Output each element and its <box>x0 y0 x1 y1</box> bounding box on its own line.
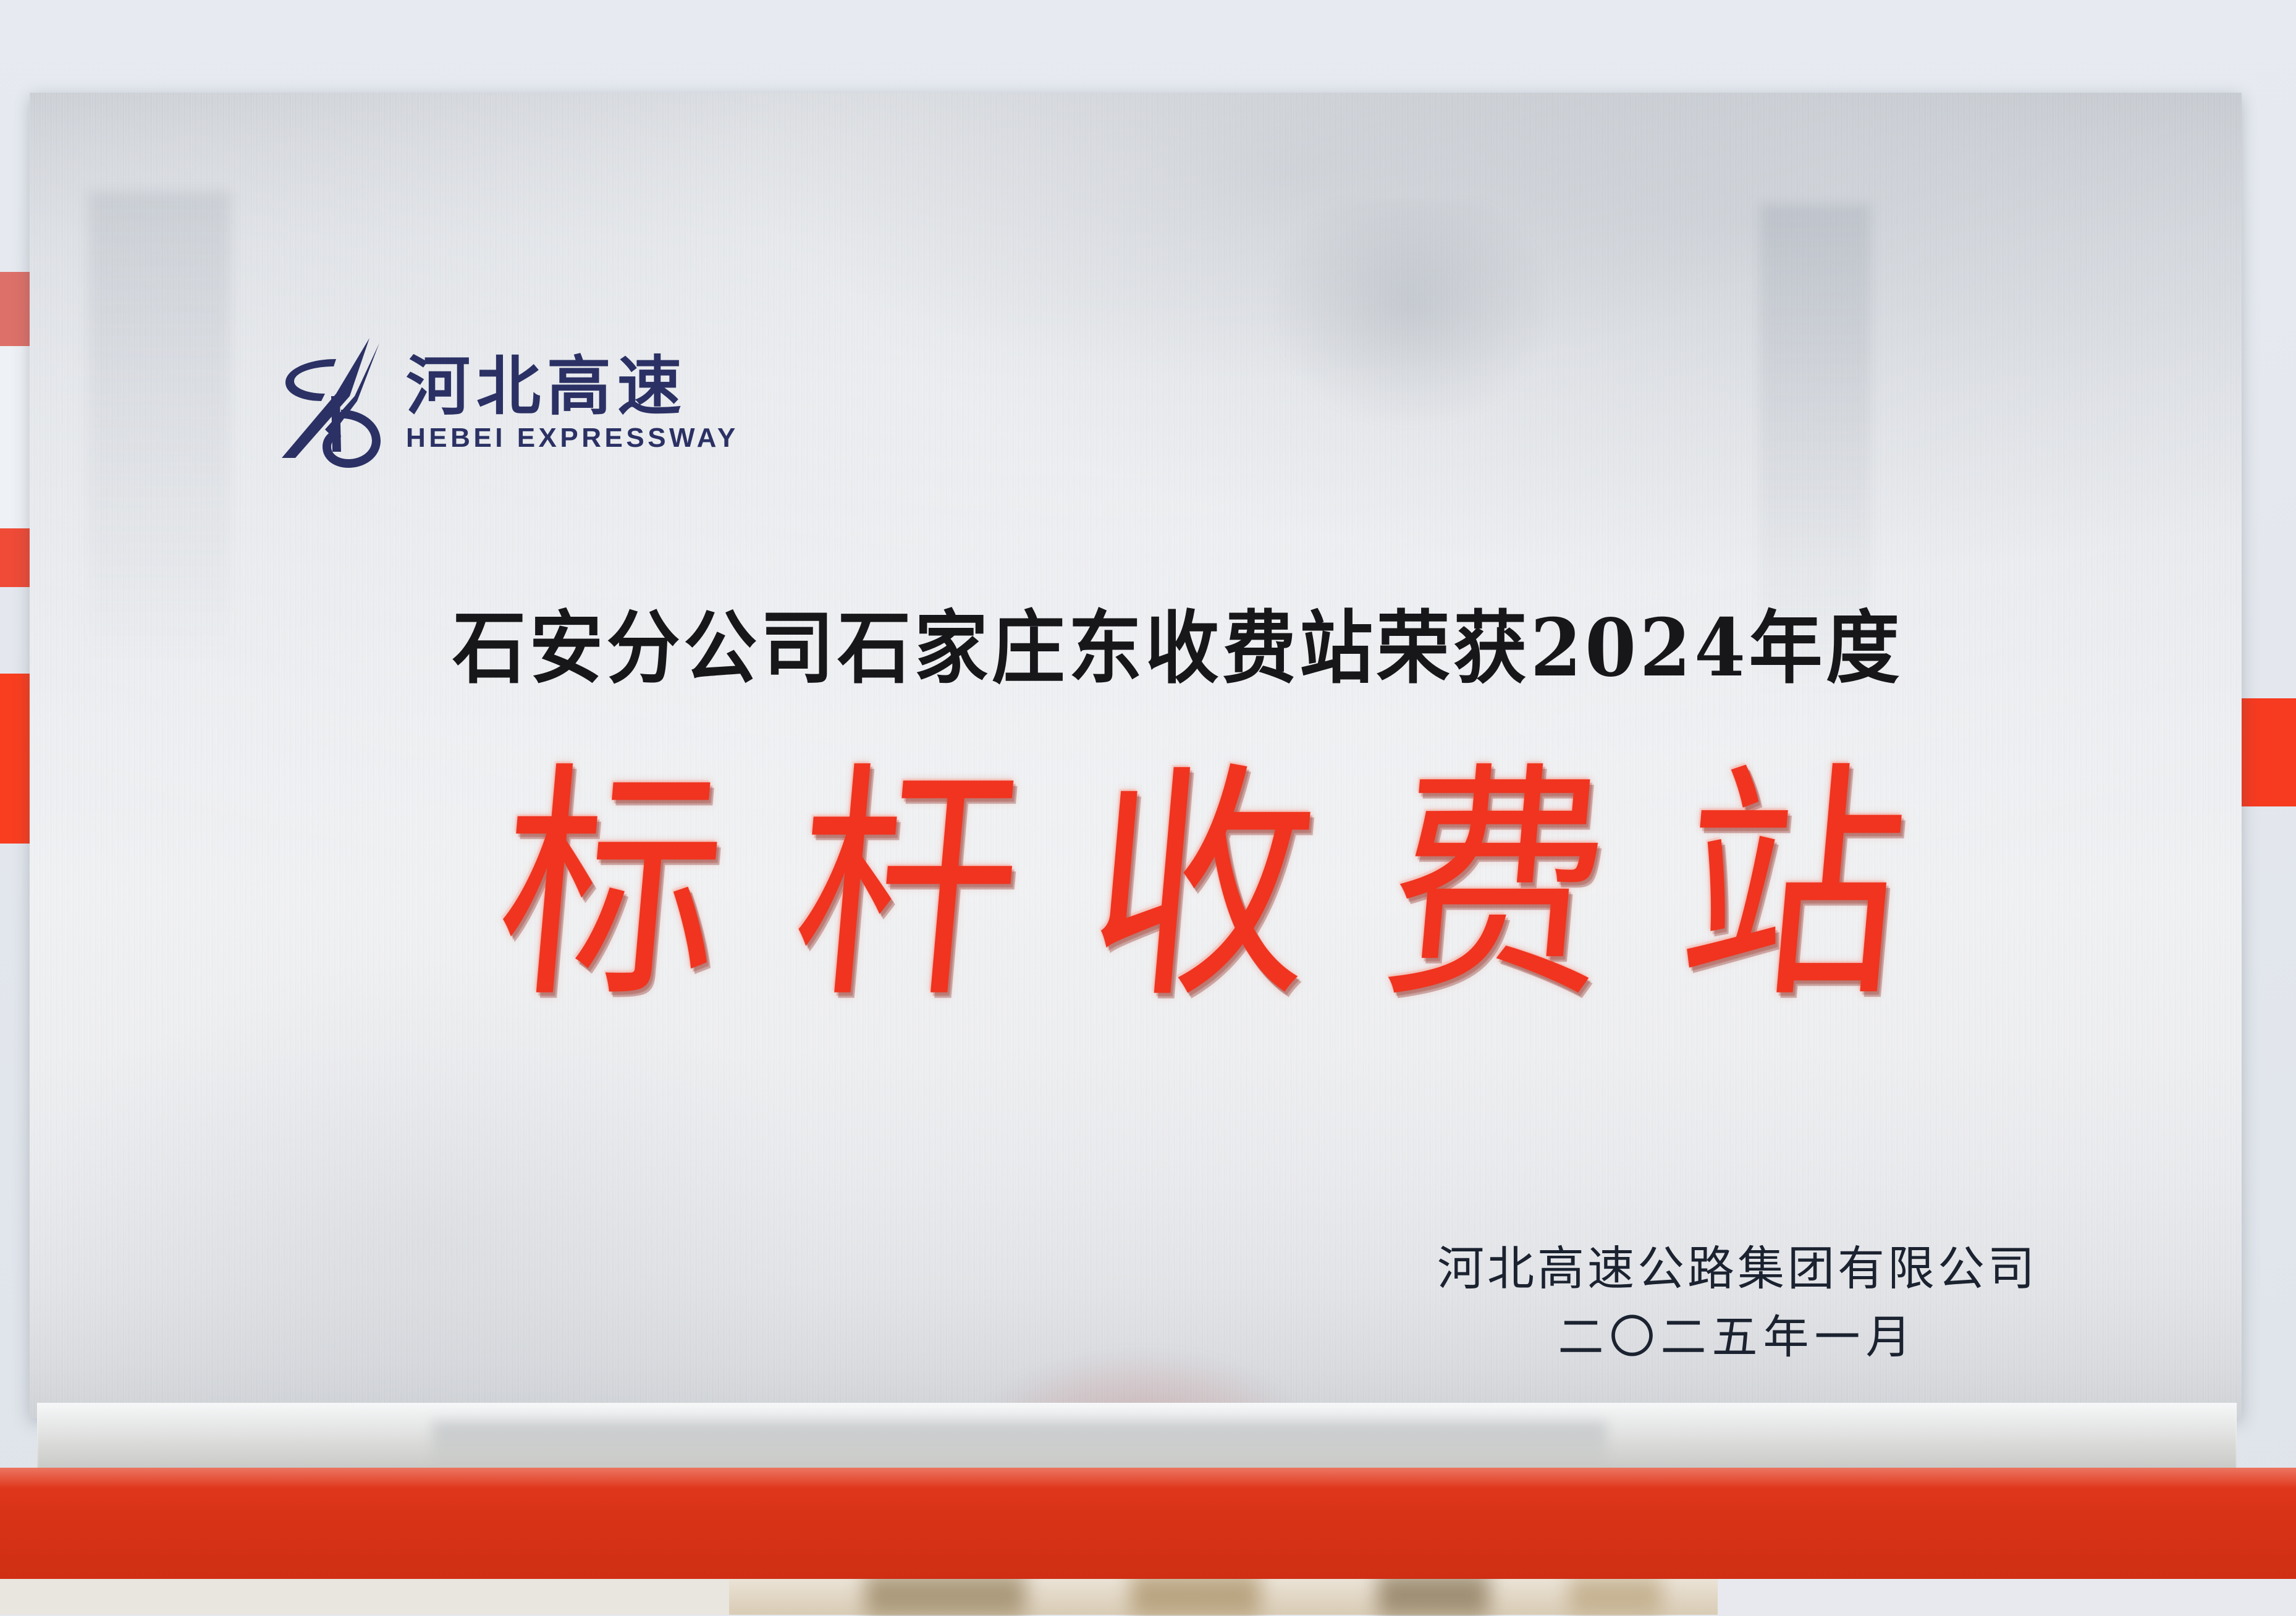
award-title-char: 费 <box>1375 762 1619 1011</box>
logo-chinese-name: 河北高速 <box>406 353 739 421</box>
award-headline: 石安分公司石家庄东收费站荣获2024年度 <box>110 584 2245 698</box>
background-blur-object <box>1569 1576 1662 1615</box>
hebei-expressway-emblem-icon <box>277 337 385 470</box>
background-blur-object <box>1378 1573 1489 1616</box>
award-title-char: 标 <box>489 762 733 1011</box>
scene-background: 河北高速 HEBEI EXPRESSWAY 石安分公司石家庄东收费站荣获2024… <box>0 0 2296 1615</box>
award-title-char: 收 <box>1080 762 1324 1011</box>
background-blur-object <box>865 1573 1026 1616</box>
award-plaque: 河北高速 HEBEI EXPRESSWAY 石安分公司石家庄东收费站荣获2024… <box>30 93 2242 1418</box>
issue-date: 二〇二五年一月 <box>1437 1309 2038 1366</box>
logo-english-name: HEBEI EXPRESSWAY <box>406 423 739 453</box>
issuing-organization: 河北高速公路集团有限公司 <box>1437 1239 2038 1298</box>
surface-reflection-streak-right <box>1760 204 1871 822</box>
signature-block: 河北高速公路集团有限公司 二〇二五年一月 <box>1437 1239 2038 1366</box>
plaque-bottom-shadow <box>433 1421 1606 1465</box>
award-title-char: 杆 <box>785 762 1029 1011</box>
hebei-expressway-logo: 河北高速 HEBEI EXPRESSWAY <box>277 337 739 470</box>
red-table-gloss <box>0 1468 2296 1489</box>
award-title: 标 杆 收 费 站 <box>30 776 2296 998</box>
award-title-char: 站 <box>1671 762 1915 1011</box>
surface-reflection-top <box>1235 201 1618 522</box>
logo-wordmark: 河北高速 HEBEI EXPRESSWAY <box>406 353 739 454</box>
background-blur-object <box>1131 1573 1260 1616</box>
